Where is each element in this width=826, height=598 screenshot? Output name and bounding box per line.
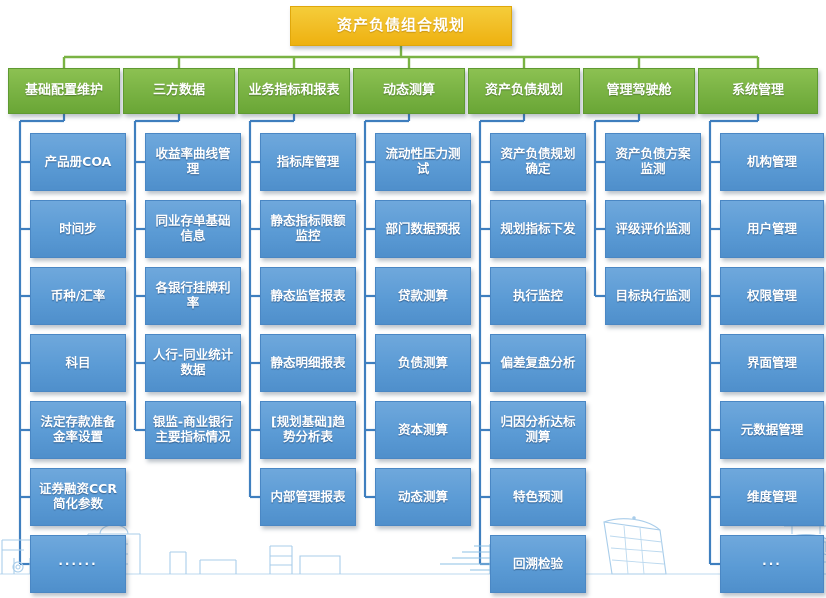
leaf-3-4-label: 静态明细报表 xyxy=(266,356,349,371)
leaf-7-3[interactable]: 权限管理 xyxy=(720,267,824,325)
leaf-2-2[interactable]: 同业存单基础信息 xyxy=(145,200,241,258)
leaf-6-1[interactable]: 资产负债方案监测 xyxy=(605,133,701,191)
leaf-4-1[interactable]: 流动性压力测试 xyxy=(375,133,471,191)
leaf-1-2-label: 时间步 xyxy=(55,222,101,237)
leaf-4-5-label: 资本测算 xyxy=(394,423,452,438)
leaf-7-5-label: 元数据管理 xyxy=(737,423,808,438)
leaf-3-3[interactable]: 静态监管报表 xyxy=(260,267,356,325)
category-2-label: 三方数据 xyxy=(149,83,209,98)
category-7[interactable]: 系统管理 xyxy=(698,68,818,114)
leaf-2-2-label: 同业存单基础信息 xyxy=(146,214,240,244)
leaf-3-5-label: [规划基础]趋势分析表 xyxy=(261,415,355,445)
category-1-label: 基础配置维护 xyxy=(21,83,107,98)
root-node-label: 资产负债组合规划 xyxy=(333,17,469,35)
category-3[interactable]: 业务指标和报表 xyxy=(238,68,350,114)
category-2[interactable]: 三方数据 xyxy=(123,68,235,114)
leaf-1-3[interactable]: 币种/汇率 xyxy=(30,267,126,325)
leaf-1-3-label: 币种/汇率 xyxy=(47,289,110,304)
category-3-label: 业务指标和报表 xyxy=(244,83,343,98)
leaf-4-3[interactable]: 贷款测算 xyxy=(375,267,471,325)
leaf-6-2[interactable]: 评级评价监测 xyxy=(605,200,701,258)
leaf-7-7[interactable]: ··· xyxy=(720,535,824,593)
category-4[interactable]: 动态测算 xyxy=(353,68,465,114)
category-6-label: 管理驾驶舱 xyxy=(602,83,675,98)
leaf-2-4[interactable]: 人行-同业统计数据 xyxy=(145,334,241,392)
leaf-3-1-label: 指标库管理 xyxy=(273,155,344,170)
leaf-1-7-label: ······ xyxy=(54,557,101,571)
leaf-1-1[interactable]: 产品册COA xyxy=(30,133,126,191)
leaf-5-4[interactable]: 偏差复盘分析 xyxy=(490,334,586,392)
leaf-7-4-label: 界面管理 xyxy=(743,356,801,371)
leaf-2-5[interactable]: 银监-商业银行主要指标情况 xyxy=(145,401,241,459)
leaf-5-3[interactable]: 执行监控 xyxy=(490,267,586,325)
leaf-1-2[interactable]: 时间步 xyxy=(30,200,126,258)
leaf-5-7[interactable]: 回溯检验 xyxy=(490,535,586,593)
leaf-7-2-label: 用户管理 xyxy=(743,222,801,237)
leaf-4-4[interactable]: 负债测算 xyxy=(375,334,471,392)
leaf-4-6[interactable]: 动态测算 xyxy=(375,468,471,526)
leaf-5-6-label: 特色预测 xyxy=(509,490,567,505)
leaf-7-6[interactable]: 维度管理 xyxy=(720,468,824,526)
leaf-2-1-label: 收益率曲线管理 xyxy=(146,147,240,177)
leaf-2-3[interactable]: 各银行挂牌利率 xyxy=(145,267,241,325)
leaf-5-1-label: 资产负债规划确定 xyxy=(491,147,585,177)
leaf-2-4-label: 人行-同业统计数据 xyxy=(146,348,240,378)
leaf-4-3-label: 贷款测算 xyxy=(394,289,452,304)
category-4-label: 动态测算 xyxy=(379,83,439,98)
leaf-3-6-label: 内部管理报表 xyxy=(266,490,349,505)
leaf-2-5-label: 银监-商业银行主要指标情况 xyxy=(146,415,240,445)
category-6[interactable]: 管理驾驶舱 xyxy=(583,68,695,114)
leaf-5-4-label: 偏差复盘分析 xyxy=(496,356,579,371)
leaf-2-3-label: 各银行挂牌利率 xyxy=(146,281,240,311)
leaf-1-4-label: 科目 xyxy=(61,356,94,371)
leaf-6-1-label: 资产负债方案监测 xyxy=(606,147,700,177)
leaf-5-7-label: 回溯检验 xyxy=(509,557,567,572)
leaf-5-1[interactable]: 资产负债规划确定 xyxy=(490,133,586,191)
leaf-4-1-label: 流动性压力测试 xyxy=(376,147,470,177)
leaf-3-1[interactable]: 指标库管理 xyxy=(260,133,356,191)
leaf-3-4[interactable]: 静态明细报表 xyxy=(260,334,356,392)
category-1[interactable]: 基础配置维护 xyxy=(8,68,120,114)
leaf-5-2-label: 规划指标下发 xyxy=(496,222,579,237)
leaf-4-6-label: 动态测算 xyxy=(394,490,452,505)
leaf-4-2-label: 部门数据预报 xyxy=(381,222,464,237)
leaf-1-6[interactable]: 证券融资CCR简化参数 xyxy=(30,468,126,526)
leaf-3-3-label: 静态监管报表 xyxy=(266,289,349,304)
leaf-3-2-label: 静态指标限额监控 xyxy=(261,214,355,244)
leaf-1-5-label: 法定存款准备金率设置 xyxy=(31,415,125,445)
leaf-1-6-label: 证券融资CCR简化参数 xyxy=(31,482,125,512)
leaf-7-2[interactable]: 用户管理 xyxy=(720,200,824,258)
leaf-7-3-label: 权限管理 xyxy=(743,289,801,304)
category-5-label: 资产负债规划 xyxy=(481,83,567,98)
leaf-4-2[interactable]: 部门数据预报 xyxy=(375,200,471,258)
leaf-4-4-label: 负债测算 xyxy=(394,356,452,371)
leaf-1-1-label: 产品册COA xyxy=(41,155,116,170)
category-5[interactable]: 资产负债规划 xyxy=(468,68,580,114)
leaf-5-5[interactable]: 归因分析达标测算 xyxy=(490,401,586,459)
leaf-1-4[interactable]: 科目 xyxy=(30,334,126,392)
leaf-5-5-label: 归因分析达标测算 xyxy=(491,415,585,445)
leaf-1-5[interactable]: 法定存款准备金率设置 xyxy=(30,401,126,459)
leaf-5-3-label: 执行监控 xyxy=(509,289,567,304)
leaf-7-1-label: 机构管理 xyxy=(743,155,801,170)
leaf-7-7-label: ··· xyxy=(758,557,786,571)
category-7-label: 系统管理 xyxy=(728,83,788,98)
leaf-3-6[interactable]: 内部管理报表 xyxy=(260,468,356,526)
leaf-3-5[interactable]: [规划基础]趋势分析表 xyxy=(260,401,356,459)
leaf-5-2[interactable]: 规划指标下发 xyxy=(490,200,586,258)
leaf-6-3-label: 目标执行监测 xyxy=(611,289,694,304)
leaf-7-6-label: 维度管理 xyxy=(743,490,801,505)
root-node[interactable]: 资产负债组合规划 xyxy=(290,6,512,46)
leaf-1-7[interactable]: ······ xyxy=(30,535,126,593)
leaf-7-5[interactable]: 元数据管理 xyxy=(720,401,824,459)
leaf-3-2[interactable]: 静态指标限额监控 xyxy=(260,200,356,258)
leaf-6-2-label: 评级评价监测 xyxy=(611,222,694,237)
leaf-2-1[interactable]: 收益率曲线管理 xyxy=(145,133,241,191)
leaf-7-1[interactable]: 机构管理 xyxy=(720,133,824,191)
leaf-4-5[interactable]: 资本测算 xyxy=(375,401,471,459)
leaf-5-6[interactable]: 特色预测 xyxy=(490,468,586,526)
leaf-7-4[interactable]: 界面管理 xyxy=(720,334,824,392)
leaf-6-3[interactable]: 目标执行监测 xyxy=(605,267,701,325)
